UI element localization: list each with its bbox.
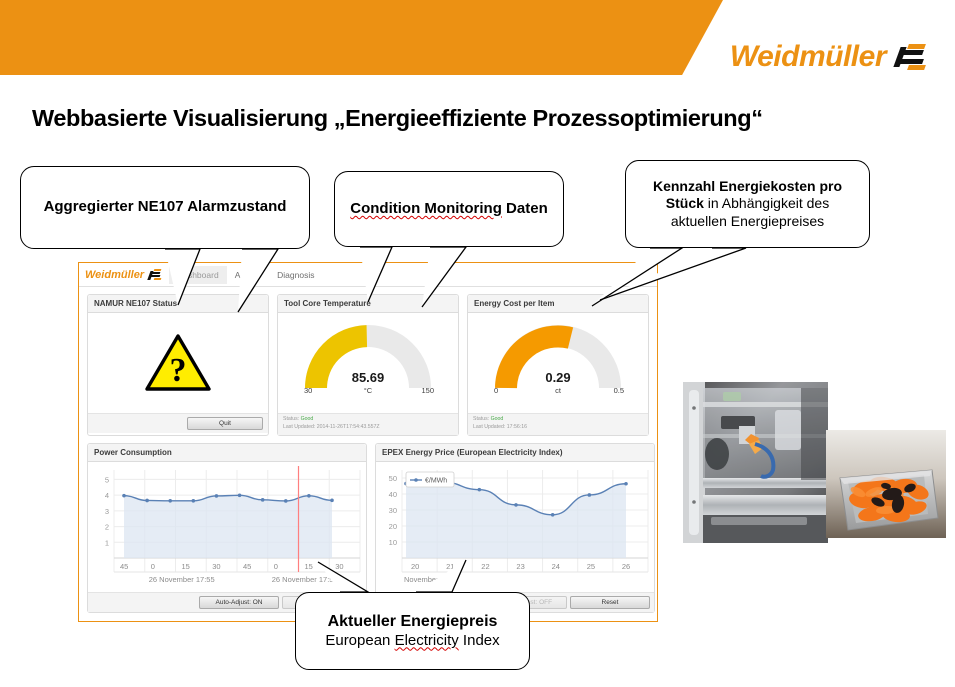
svg-text:26 November 17:55: 26 November 17:55 [149,575,215,584]
panel-power-title: Power Consumption [88,444,366,462]
app-topbar: Weidmüller Dashboard Alarms Diagnosis [79,263,657,287]
gauge-temperature-value: 85.69 [278,370,458,385]
panel-energy-cost-per-item: Energy Cost per Item 0.29 ct 0 0.5 Statu… [467,294,649,436]
svg-text:30: 30 [389,506,397,515]
chart-power-consumption: 123454501530450153026 November 17:5526 N… [88,462,366,592]
svg-text:30: 30 [212,562,220,571]
temperature-status-value: Good [301,416,314,422]
svg-text:26: 26 [622,562,630,571]
svg-text:25: 25 [587,562,595,571]
panel-energy-cost-body: 0.29 ct 0 0.5 [468,313,648,413]
header-band: Weidmüller [0,0,955,88]
panel-energy-cost-footer: Status: Good Last Updated: 17:56:16 [468,413,648,435]
dashboard-app-window: Weidmüller Dashboard Alarms Diagnosis NA… [78,262,658,622]
panel-power-body: 123454501530450153026 November 17:5526 N… [88,462,366,592]
page-title: Webbasierte Visualisierung „Energieeffiz… [32,105,763,132]
svg-text:22: 22 [481,562,489,571]
weidmueller-mark-icon [895,44,925,70]
panel-ne107-title: NAMUR NE107 Status [88,295,268,313]
svg-text:?: ? [170,352,187,389]
svg-text:1: 1 [105,538,109,547]
svg-text:0: 0 [274,562,278,571]
brand-name: Weidmüller [730,40,886,74]
gauge-temperature: 85.69 °C 30 150 [278,313,458,413]
temperature-updated-value: 2014-11-26T17:54:43.557Z [317,424,380,430]
callout-cm-spellchecked: Condition Monitoring [350,200,502,217]
svg-text:23: 23 [516,562,524,571]
energy-cost-updated-label: Last Updated: [473,424,505,430]
temperature-status-row: Status: Good [283,416,453,424]
callout-energy-cost: Kennzahl Energiekosten pro Stück in Abhä… [625,160,870,248]
panel-temperature-body: 85.69 °C 30 150 [278,313,458,413]
svg-text:5: 5 [105,475,109,484]
callout-condition-monitoring-text: Condition Monitoring Daten [342,200,555,218]
callout-cost-line2-rest: in Abhängigkeit des [704,195,829,211]
photo-extruded-food-tray [826,430,946,538]
panel-epex-title: EPEX Energy Price (European Electricity … [376,444,654,462]
energy-cost-status-label: Status: [473,416,489,422]
svg-text:20: 20 [411,562,419,571]
panel-epex-body: 102030405020212223242526November 2014€/M… [376,462,654,592]
callout-cost-line2-bold: Stück [666,195,704,211]
header-white-strip [0,75,955,88]
tab-dashboard[interactable]: Dashboard [169,266,227,284]
energy-cost-updated-row: Last Updated: 17:56:16 [473,424,643,432]
temperature-status-label: Status: [283,416,299,422]
svg-text:21: 21 [446,562,454,571]
chart-epex-energy-price: 102030405020212223242526November 2014€/M… [376,462,654,592]
gauge-energy-cost-max: 0.5 [614,386,624,395]
panel-temperature-footer: Status: Good Last Updated: 2014-11-26T17… [278,413,458,435]
svg-text:30: 30 [335,562,343,571]
panel-tool-core-temperature: Tool Core Temperature 85.69 °C 30 150 St… [277,294,459,436]
svg-text:15: 15 [305,562,313,571]
svg-text:4: 4 [105,491,109,500]
svg-text:10: 10 [389,538,397,547]
energy-cost-status-row: Status: Good [473,416,643,424]
callout-price-spellchecked: Electricity [395,632,459,649]
warning-triangle-question-icon: ? [145,334,211,392]
callout-ne107-alarm: Aggregierter NE107 Alarmzustand [20,166,310,249]
tab-alarms[interactable]: Alarms [227,266,269,284]
svg-text:20: 20 [389,522,397,531]
svg-text:50: 50 [389,474,397,483]
panel-temperature-title: Tool Core Temperature [278,295,458,313]
temperature-updated-label: Last Updated: [283,424,315,430]
gauge-energy-cost: 0.29 ct 0 0.5 [468,313,648,413]
svg-text:€/MWh: €/MWh [425,477,447,484]
callout-cm-rest: Daten [502,200,548,217]
energy-cost-updated-value: 17:56:16 [507,424,527,430]
svg-text:15: 15 [182,562,190,571]
callout-cost-line1: Kennzahl Energiekosten pro [653,178,842,194]
callout-energy-cost-text: Kennzahl Energiekosten pro Stück in Abhä… [645,178,850,229]
energy-cost-status-value: Good [491,416,504,422]
gauge-energy-cost-value: 0.29 [468,370,648,385]
callout-condition-monitoring: Condition Monitoring Daten [334,171,564,247]
callout-energy-price-text: Aktueller Energiepreis European Electric… [317,612,507,650]
svg-text:40: 40 [389,490,397,499]
callout-cost-line3: aktuellen Energiepreises [671,213,824,229]
callout-energy-price: Aktueller Energiepreis European Electric… [295,592,530,670]
tab-diagnosis[interactable]: Diagnosis [269,266,322,284]
quit-button[interactable]: Quit [187,417,263,430]
panel-epex-energy-price: EPEX Energy Price (European Electricity … [375,443,655,613]
svg-text:2: 2 [105,522,109,531]
svg-text:45: 45 [243,562,251,571]
svg-text:26 November 17:56: 26 November 17:56 [272,575,338,584]
callout-price-line2-b: Index [459,632,500,649]
photo-3d-printer [683,382,828,543]
brand-logo: Weidmüller [730,40,925,74]
power-auto-adjust-button[interactable]: Auto-Adjust: ON [199,596,279,609]
app-brand-name: Weidmüller [85,269,144,281]
panel-power-consumption: Power Consumption 123454501530450153026 … [87,443,367,613]
panel-energy-cost-title: Energy Cost per Item [468,295,648,313]
callout-ne107-text: Aggregierter NE107 Alarmzustand [36,198,295,216]
svg-text:24: 24 [552,562,560,571]
callout-price-line2-a: European [325,632,394,649]
panel-ne107-footer: Quit [88,413,268,433]
gauge-temperature-max: 150 [421,386,434,395]
epex-reset-button[interactable]: Reset [570,596,650,609]
panels-row-top: NAMUR NE107 Status ? Quit Tool Core Temp… [79,287,657,436]
app-brand-logo: Weidmüller [85,269,161,281]
svg-text:45: 45 [120,562,128,571]
gauge-energy-cost-min: 0 [494,386,498,395]
panels-row-bottom: Power Consumption 123454501530450153026 … [79,436,657,613]
weidmueller-mark-icon-small [148,269,161,280]
gauge-temperature-min: 30 [304,386,312,395]
panel-ne107-body: ? [88,313,268,413]
callout-price-line1: Aktueller Energiepreis [328,613,498,630]
svg-text:0: 0 [151,562,155,571]
panel-ne107-status: NAMUR NE107 Status ? Quit [87,294,269,436]
svg-text:3: 3 [105,506,109,515]
temperature-updated-row: Last Updated: 2014-11-26T17:54:43.557Z [283,424,453,432]
svg-text:November 2014: November 2014 [404,575,457,584]
